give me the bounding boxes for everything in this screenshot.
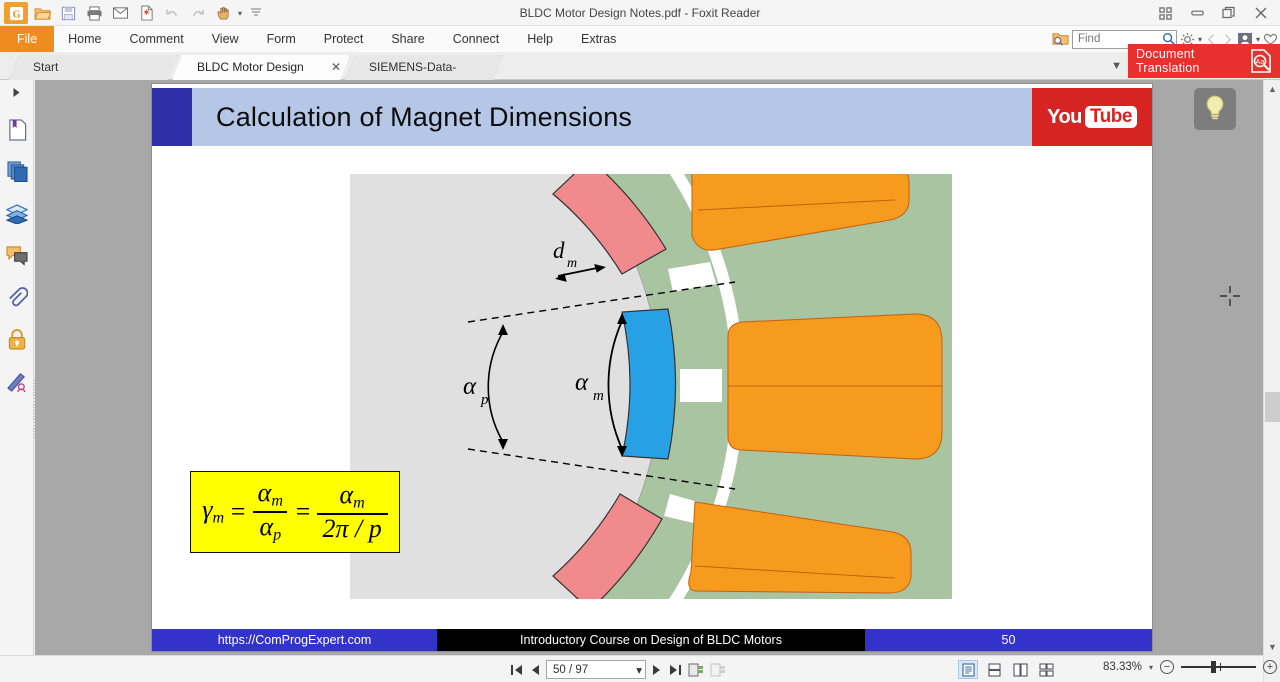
security-lock-icon [7, 329, 27, 354]
single-page-view-button[interactable] [958, 660, 978, 679]
foxit-logo-icon[interactable]: G [4, 2, 28, 24]
slide-footer-page-number: 50 [865, 629, 1152, 651]
formula-equals-1: = [229, 499, 247, 525]
first-page-button[interactable] [510, 664, 524, 676]
menu-item-comment[interactable]: Comment [116, 26, 198, 52]
tab-close-icon[interactable]: ✕ [331, 55, 341, 79]
formula-f1-den-sub: p [273, 527, 281, 544]
hand-tool-icon[interactable] [212, 2, 236, 24]
menu-item-connect[interactable]: Connect [439, 26, 514, 52]
crosshair-cursor-icon [1220, 286, 1240, 306]
previous-page-button[interactable] [530, 664, 540, 676]
layers-icon [6, 204, 28, 227]
digital-signature-icon [6, 371, 28, 396]
svg-text:α: α [575, 369, 589, 396]
formula-f2-den: 2π / p [323, 514, 382, 543]
translation-line1: Document [1136, 47, 1200, 61]
vertical-scrollbar[interactable]: ▲ ▼ [1263, 80, 1280, 682]
zoom-group: 83.33% ▾ − + [1098, 660, 1277, 674]
title-bar: G ▾ [0, 0, 1280, 26]
close-icon[interactable] [1246, 1, 1276, 25]
menu-item-share[interactable]: Share [377, 26, 438, 52]
pdf-page: Calculation of Magnet Dimensions You Tub… [152, 84, 1152, 651]
document-viewer[interactable]: Calculation of Magnet Dimensions You Tub… [35, 80, 1263, 655]
slide-body: α p α m [152, 146, 1152, 586]
sidebar-expand-icon[interactable] [13, 87, 22, 101]
zoom-level-value: 83.33% [1098, 661, 1142, 673]
translation-line2: Translation [1136, 61, 1200, 75]
slide-footer-course: Introductory Course on Design of BLDC Mo… [437, 629, 865, 651]
status-bar: 50 / 97 ▾ [0, 655, 1263, 682]
magnet-fraction-formula: γm = αm αp = αm 2π / p [202, 480, 388, 543]
search-document-icon[interactable] [1052, 31, 1069, 47]
previous-view-button[interactable] [688, 663, 704, 677]
sidebar-item-comments[interactable] [0, 236, 34, 278]
menu-item-home[interactable]: Home [54, 26, 115, 52]
comments-icon [6, 246, 28, 269]
quick-access-toolbar: G ▾ [4, 2, 268, 24]
menu-item-extras[interactable]: Extras [567, 26, 630, 52]
slide-footer-url: https://ComProgExpert.com [152, 629, 437, 651]
zoom-slider-thumb[interactable] [1211, 661, 1216, 673]
zoom-in-button[interactable]: + [1263, 660, 1277, 674]
formula-f1-num-sub: m [271, 493, 283, 510]
zoom-slider-tick [1220, 663, 1221, 671]
menu-item-file[interactable]: File [0, 26, 54, 52]
svg-text:G: G [12, 9, 20, 20]
sidebar-item-digital-signatures[interactable] [0, 362, 34, 404]
last-page-button[interactable] [668, 664, 682, 676]
create-pdf-icon[interactable] [134, 2, 158, 24]
sidebar-item-page-thumbnails[interactable] [0, 152, 34, 194]
sidebar-item-layers[interactable] [0, 194, 34, 236]
next-page-button[interactable] [652, 664, 662, 676]
hint-bulb-button[interactable] [1194, 88, 1236, 130]
maximize-icon[interactable] [1214, 1, 1244, 25]
svg-text:α: α [463, 373, 477, 400]
foxit-reader-window: G ▾ [0, 0, 1280, 682]
minimize-icon[interactable] [1182, 1, 1212, 25]
formula-gamma-sub: m [212, 510, 224, 527]
hint-bulb-icon [1202, 94, 1228, 125]
redo-icon [186, 2, 210, 24]
hand-tool-dropdown-icon[interactable]: ▾ [238, 9, 242, 18]
scrollbar-thumb[interactable] [1265, 392, 1280, 422]
undo-icon [160, 2, 184, 24]
sidebar-item-attachments[interactable] [0, 278, 34, 320]
account-dropdown-icon[interactable]: ▾ [1256, 35, 1260, 44]
navigation-sidebar [0, 80, 34, 682]
youtube-logo-you: You [1047, 106, 1082, 129]
magnet-fraction-formula-box: γm = αm αp = αm 2π / p [190, 471, 400, 553]
bookmarks-icon [7, 119, 28, 144]
slide: Calculation of Magnet Dimensions You Tub… [152, 84, 1152, 651]
zoom-slider[interactable] [1181, 660, 1256, 674]
formula-fraction-2: αm 2π / p [317, 482, 388, 542]
svg-text:Aa: Aa [1255, 57, 1265, 66]
next-view-button [710, 663, 726, 677]
svg-text:m: m [567, 256, 577, 271]
page-dropdown-icon[interactable]: ▾ [636, 663, 642, 677]
formula-equals-2: = [294, 499, 312, 525]
open-file-icon[interactable] [30, 2, 54, 24]
menu-item-view[interactable]: View [198, 26, 253, 52]
slide-title-band: Calculation of Magnet Dimensions [192, 88, 1032, 146]
print-icon[interactable] [82, 2, 106, 24]
svg-text:p: p [480, 392, 489, 408]
sidebar-item-bookmarks[interactable] [0, 110, 34, 152]
page-number-value: 50 / 97 [553, 664, 588, 676]
zoom-out-button[interactable]: − [1160, 660, 1174, 674]
menu-item-help[interactable]: Help [513, 26, 567, 52]
zoom-dropdown-icon[interactable]: ▾ [1149, 663, 1153, 672]
facing-view-button[interactable] [1010, 660, 1030, 679]
menu-item-form[interactable]: Form [253, 26, 310, 52]
formula-gamma: γ [202, 495, 212, 524]
zoom-slider-track [1181, 666, 1256, 668]
settings-dropdown-icon[interactable]: ▾ [1198, 35, 1202, 44]
youtube-logo-tube: Tube [1085, 106, 1137, 128]
tab-start[interactable]: Start [8, 55, 178, 80]
formula-fraction-1: αm αp [252, 480, 289, 543]
customize-toolbar-icon[interactable] [244, 2, 268, 24]
tab-overflow-chevron-icon[interactable]: ▼ [1111, 60, 1122, 72]
youtube-logo: You Tube [1032, 88, 1152, 146]
menu-bar: File Home Comment View Form Protect Shar… [0, 26, 1280, 52]
menu-item-protect[interactable]: Protect [310, 26, 378, 52]
page-thumbnails-icon [7, 161, 28, 185]
slide-header: Calculation of Magnet Dimensions You Tub… [152, 88, 1152, 146]
page-number-input[interactable]: 50 / 97 ▾ [546, 660, 646, 679]
attachments-icon [6, 287, 28, 312]
motor-cross-section-diagram: α p α m [350, 174, 952, 599]
scroll-down-icon[interactable]: ▼ [1264, 638, 1280, 655]
svg-text:d: d [553, 238, 565, 263]
tab-bldc-motor-design-notes[interactable]: BLDC Motor Design Not... ✕ [172, 55, 350, 80]
continuous-scroll-view-button[interactable] [984, 660, 1004, 679]
formula-f2-num: α [339, 480, 353, 509]
save-icon[interactable] [56, 2, 80, 24]
slide-footer: https://ComProgExpert.com Introductory C… [152, 629, 1152, 651]
page-navigation-group: 50 / 97 ▾ [510, 659, 726, 680]
document-translation-banner[interactable]: Document Translation Aa [1128, 44, 1280, 78]
view-mode-group [958, 660, 1056, 679]
svg-text:m: m [593, 388, 604, 404]
scroll-up-icon[interactable]: ▲ [1264, 80, 1280, 97]
continuous-facing-view-button[interactable] [1036, 660, 1056, 679]
formula-f1-den: α [259, 512, 273, 541]
document-tab-strip: Start BLDC Motor Design Not... ✕ SIEMENS… [0, 52, 1280, 80]
sidebar-item-security[interactable] [0, 320, 34, 362]
email-icon[interactable] [108, 2, 132, 24]
formula-f2-num-sub: m [353, 495, 365, 512]
tab-label: Start [33, 60, 58, 74]
translation-badge-icon: Aa [1248, 48, 1274, 74]
ribbon-options-icon[interactable] [1150, 1, 1180, 25]
tab-siemens-data-sheet[interactable]: SIEMENS-Data-Sheet.... [344, 55, 504, 80]
slide-title: Calculation of Magnet Dimensions [192, 102, 632, 133]
window-controls [1150, 0, 1276, 26]
formula-f1-num: α [258, 478, 272, 507]
slide-header-accent [152, 88, 192, 146]
